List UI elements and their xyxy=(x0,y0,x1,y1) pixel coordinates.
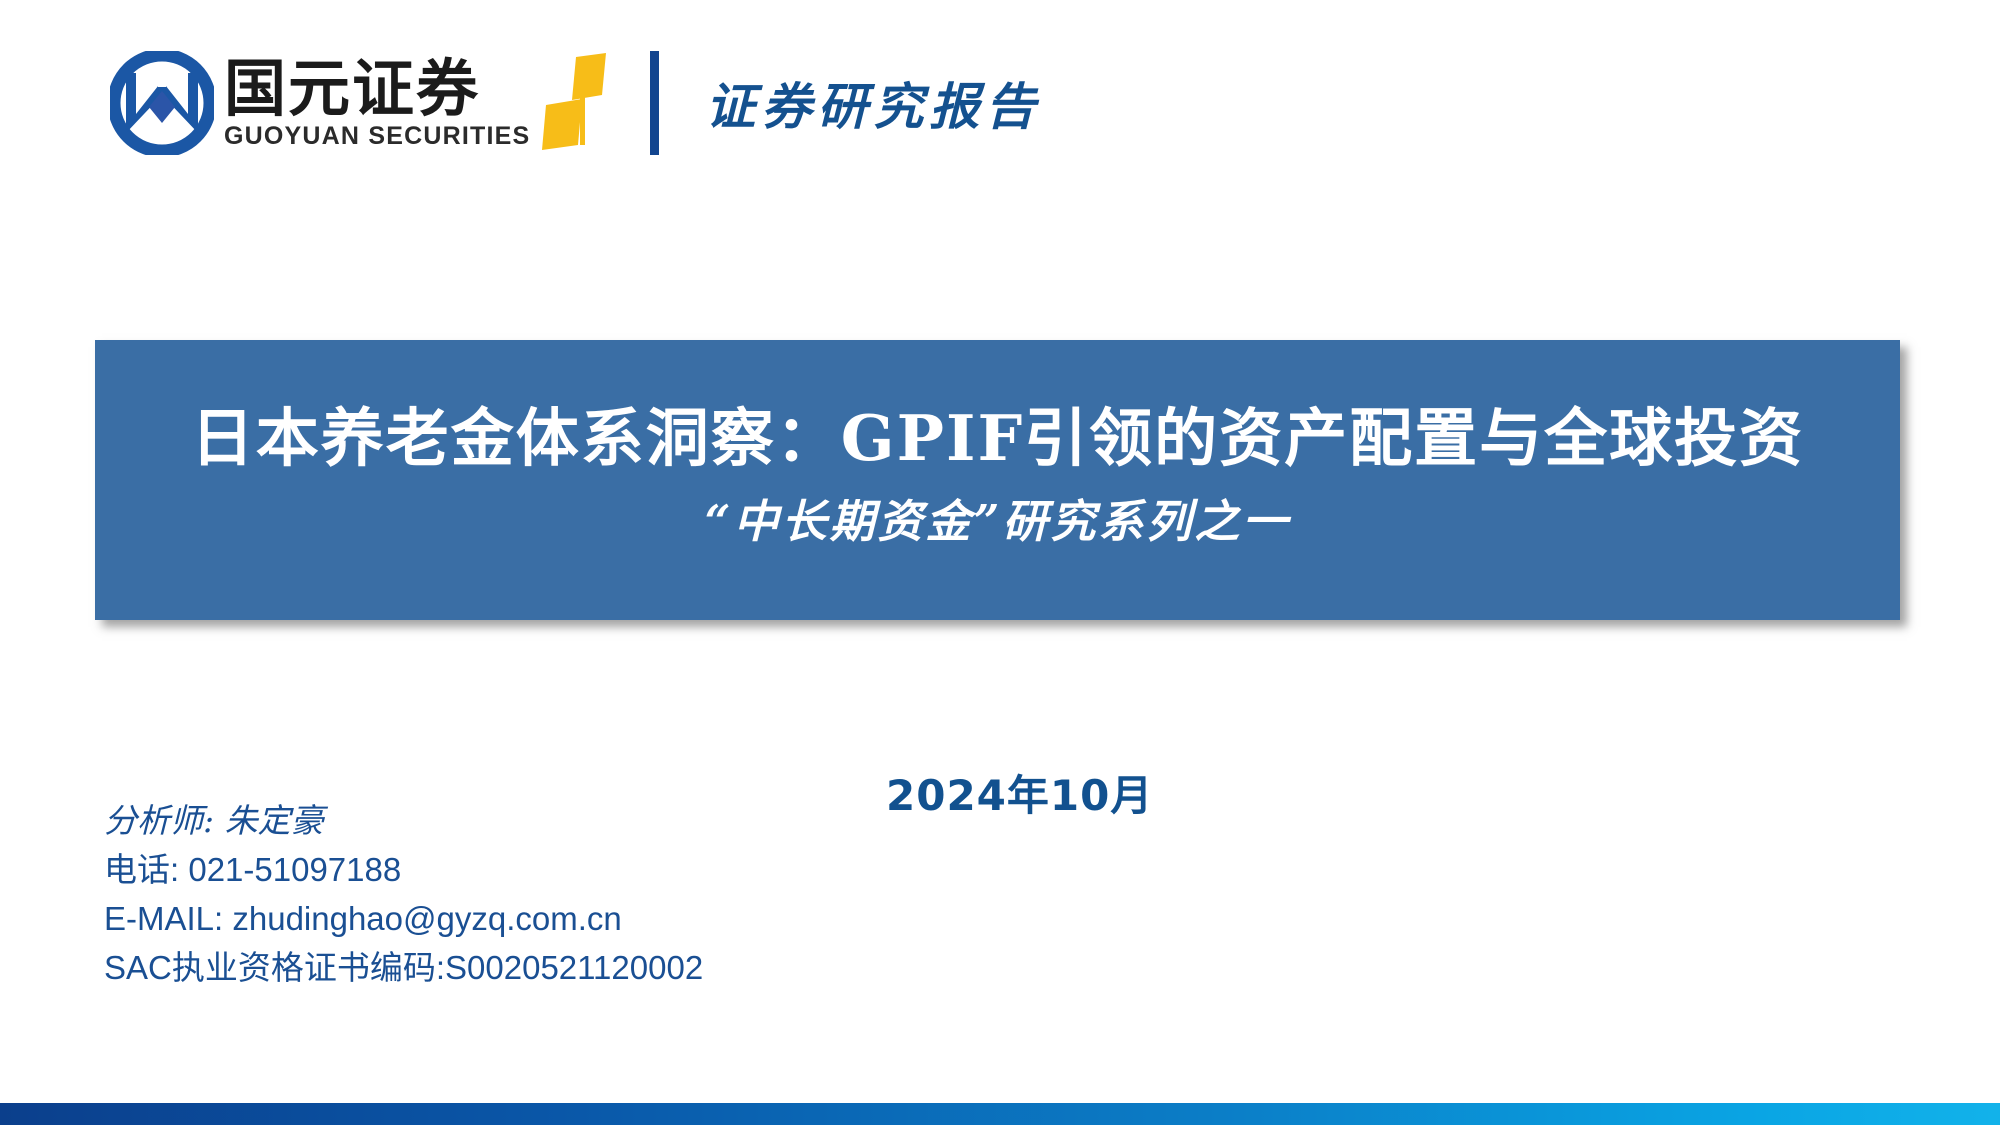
title-banner: 日本养老金体系洞察：GPIF引领的资产配置与全球投资 “中长期资金”研究系列之一 xyxy=(95,340,1900,620)
company-name-en: GUOYUAN SECURITIES xyxy=(224,123,530,151)
footer-gradient-bar xyxy=(0,1103,2000,1125)
analyst-name: 分析师: 朱定豪 xyxy=(104,798,703,845)
analyst-email[interactable]: E-MAIL: zhudinghao@gyzq.com.cn xyxy=(104,896,703,943)
analyst-phone: 电话: 021-51097188 xyxy=(104,847,703,894)
report-header: 国元证券 GUOYUAN SECURITIES 证券研究报告 xyxy=(110,38,1041,168)
page-title: 日本养老金体系洞察：GPIF引领的资产配置与全球投资 xyxy=(191,400,1804,477)
analyst-contact-block: 分析师: 朱定豪 电话: 021-51097188 E-MAIL: zhudin… xyxy=(104,798,703,991)
company-wordmark: 国元证券 GUOYUAN SECURITIES xyxy=(224,51,530,155)
analyst-sac-license: SAC执业资格证书编码:S0020521120002 xyxy=(104,945,703,992)
page-subtitle: “中长期资金”研究系列之一 xyxy=(705,493,1291,552)
header-divider xyxy=(650,51,659,155)
yellow-flag-shapes-icon xyxy=(536,51,614,155)
guoyuan-circle-diamond-logo-icon xyxy=(110,51,214,155)
report-date: 2024年10月 xyxy=(886,762,1153,823)
company-name-cn: 国元证券 xyxy=(224,56,530,121)
report-type-label: 证券研究报告 xyxy=(705,67,1041,139)
